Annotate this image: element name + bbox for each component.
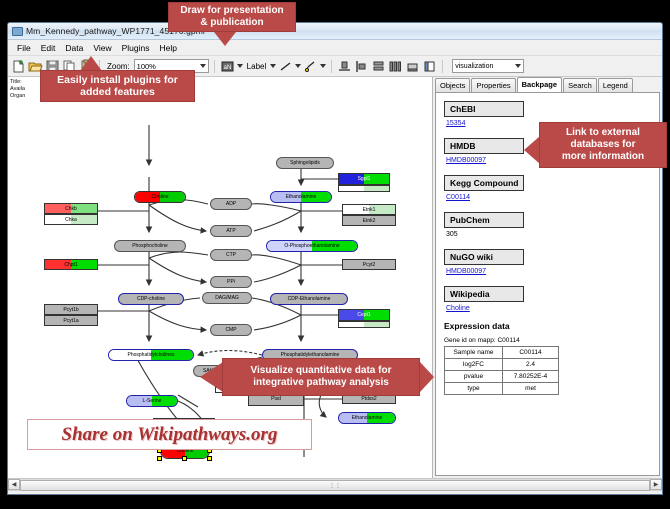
node-phosphatidylcholines[interactable]: Phosphatidylcholines	[108, 349, 194, 361]
cell-value: 2.4	[503, 359, 559, 371]
menu-edit[interactable]: Edit	[36, 42, 61, 54]
scrollbar-thumb[interactable]: ⋮⋮	[20, 480, 650, 491]
group-icon[interactable]	[405, 59, 420, 74]
callout-viz-line1: Visualize quantitative data for	[251, 365, 392, 377]
tab-objects[interactable]: Objects	[435, 78, 470, 92]
node-ppi[interactable]: PPi	[210, 276, 252, 288]
callout-viz-line2: integrative pathway analysis	[251, 377, 392, 389]
gene-sgpl1[interactable]: Sgpl1	[338, 173, 390, 185]
tab-properties[interactable]: Properties	[471, 78, 515, 92]
callout-plugins-pointer	[80, 56, 102, 71]
selection-handle[interactable]	[207, 456, 212, 461]
scrollbar-track[interactable]: ⋮⋮	[20, 479, 650, 490]
toolbar-separator-4	[442, 60, 443, 73]
tab-search[interactable]: Search	[563, 78, 597, 92]
callout-draw-line2: & publication	[180, 17, 283, 29]
callout-visualize-quantitative-data: Visualize quantitative data for integrat…	[222, 358, 420, 396]
menu-view[interactable]: View	[88, 42, 116, 54]
anchor-dropdown-icon[interactable]	[320, 64, 326, 68]
line-dropdown-icon[interactable]	[295, 64, 301, 68]
pathway-canvas[interactable]: Title: Availa Organ	[8, 77, 433, 478]
horizontal-scrollbar[interactable]: ◀ ⋮⋮ ▶	[8, 478, 662, 490]
visualization-value: visualization	[455, 63, 493, 70]
gene-chpt1[interactable]: Chpt1	[44, 259, 98, 270]
distribute-horizontal-icon[interactable]	[388, 59, 403, 74]
node-label: L-Serine	[143, 398, 162, 404]
callout-link-to-external-databases: Link to external databases for more info…	[539, 122, 667, 168]
cell-key: pvalue	[445, 371, 503, 383]
gene-pcyt2[interactable]: Pcyt2	[342, 259, 396, 270]
cell-key: type	[445, 383, 503, 395]
gene-label: Chkb	[65, 206, 77, 212]
node-label: Phosphatidylcholines	[128, 352, 175, 358]
menu-help[interactable]: Help	[155, 42, 182, 54]
svg-text:aN: aN	[223, 65, 231, 71]
menu-data[interactable]: Data	[60, 42, 88, 54]
order-icon[interactable]	[422, 59, 437, 74]
screenshot-root: Mm_Kennedy_pathway_WP1771_45176.gpml Fil…	[0, 0, 670, 509]
callout-visualize-pointer-right	[420, 362, 434, 392]
gene-cept1-lower	[338, 321, 390, 328]
status-text: | Gene database: ...m_Derby_20120602.bri…	[12, 494, 398, 496]
node-choline-top[interactable]: Choline	[134, 191, 186, 203]
label-tool-label: Label	[247, 62, 267, 71]
node-sphingolipids[interactable]: Sphingolipids	[276, 157, 334, 169]
gene-label: Chpt1	[64, 262, 77, 268]
menu-plugins[interactable]: Plugins	[117, 42, 155, 54]
node-cdp-ethanolamine[interactable]: CDP-Ethanolamine	[270, 293, 348, 305]
toolbar-separator-2	[214, 60, 215, 73]
align-bottom-icon[interactable]	[337, 59, 352, 74]
cell-value: met	[503, 383, 559, 395]
node-label: Ethanolamine	[352, 415, 383, 421]
table-row: log2FC 2.4	[445, 359, 559, 371]
callout-plugins-line1: Easily install plugins for	[57, 74, 178, 86]
menu-file[interactable]: File	[12, 42, 36, 54]
gene-cept1[interactable]: Cept1	[338, 309, 390, 321]
callout-link-pointer	[524, 136, 540, 164]
node-l-serine-left[interactable]: L-Serine	[126, 395, 178, 407]
align-left-icon[interactable]	[354, 59, 369, 74]
node-label: Choline	[152, 194, 169, 200]
cell-value: C00114	[503, 347, 559, 359]
gene-id-on-mapp: Gene id on mapp: C00114	[444, 337, 659, 344]
db-header-pubchem: PubChem	[444, 212, 524, 228]
node-dag-mag[interactable]: DAG/MAG	[202, 292, 252, 304]
node-ethanolamine-top[interactable]: Ethanolamine	[270, 191, 332, 203]
node-label: Ethanolamine	[286, 194, 317, 200]
node-cdp-choline[interactable]: CDP-choline	[118, 293, 184, 305]
gene-chkb[interactable]: Chkb	[44, 203, 98, 214]
node-phosphocholine[interactable]: Phosphocholine	[114, 240, 186, 252]
gene-label: Cept1	[357, 312, 370, 318]
db-header-chebi: ChEBI	[444, 101, 524, 117]
callout-link-line2: databases for	[562, 139, 644, 151]
callout-draw-for-presentation: Draw for presentation & publication	[168, 2, 296, 32]
scroll-left-icon[interactable]: ◀	[8, 479, 20, 490]
callout-visualize-pointer-left	[200, 362, 223, 392]
selection-handle[interactable]	[182, 456, 187, 461]
gene-etnk1[interactable]: Etnk1	[342, 204, 396, 215]
label-dropdown-icon[interactable]	[270, 64, 276, 68]
node-label: O-Phosphoethanolamine	[284, 243, 339, 249]
db-link-wikipedia[interactable]: Choline	[446, 305, 659, 312]
cell-key: log2FC	[445, 359, 503, 371]
cell-value: 7.80252E-4	[503, 371, 559, 383]
datanode-dropdown-icon[interactable]	[237, 64, 243, 68]
datanode-icon[interactable]: aN	[220, 59, 235, 74]
chevron-down-icon	[200, 64, 206, 68]
table-row: type met	[445, 383, 559, 395]
db-header-kegg-compound: Kegg Compound	[444, 175, 524, 191]
callout-draw-line1: Draw for presentation	[180, 5, 283, 17]
gene-chka[interactable]: Chka	[44, 214, 98, 225]
node-cmp[interactable]: CMP	[210, 324, 252, 336]
selection-handle[interactable]	[157, 456, 162, 461]
tab-legend[interactable]: Legend	[598, 78, 633, 92]
callout-link-line1: Link to external	[562, 127, 644, 139]
node-adp[interactable]: ADP	[210, 198, 252, 210]
db-header-hmdb: HMDB	[444, 138, 524, 154]
toolbar-separator-3	[331, 60, 332, 73]
menu-bar: File Edit Data View Plugins Help	[8, 40, 662, 56]
gene-pcyt1b[interactable]: Pcyt1b	[44, 304, 98, 315]
table-row: pvalue 7.80252E-4	[445, 371, 559, 383]
node-ethanolamine-right[interactable]: Ethanolamine	[338, 412, 396, 424]
tab-backpage[interactable]: Backpage	[517, 77, 562, 92]
scroll-right-icon[interactable]: ▶	[650, 479, 662, 490]
db-header-wikipedia: Wikipedia	[444, 286, 524, 302]
gene-sgpl1-lower	[338, 185, 390, 192]
share-on-wikipathways-banner: Share on Wikipathways.org	[27, 419, 312, 450]
anchor-icon[interactable]	[303, 59, 318, 74]
node-ctp[interactable]: CTP	[210, 249, 252, 261]
gene-pcyt1a[interactable]: Pcyt1a	[44, 315, 98, 326]
table-row: Sample name C00114	[445, 347, 559, 359]
app-icon	[12, 26, 22, 36]
callout-draw-pointer	[214, 32, 236, 46]
callout-easily-install-plugins: Easily install plugins for added feature…	[40, 70, 195, 102]
db-value-pubchem: 305	[446, 231, 659, 238]
window-title-bar: Mm_Kennedy_pathway_WP1771_45176.gpml	[8, 23, 662, 40]
side-panel-tabs: Objects Properties Backpage Search Legen…	[433, 77, 662, 92]
gene-label: Etnk1	[363, 207, 376, 213]
expression-data-table: Sample name C00114 log2FC 2.4 pvalue 7.8…	[444, 346, 559, 395]
db-link-kegg-compound[interactable]: C00114	[446, 194, 659, 201]
node-atp[interactable]: ATP	[210, 225, 252, 237]
stack-vertical-icon[interactable]	[371, 59, 386, 74]
visualization-combobox[interactable]: visualization	[452, 59, 524, 73]
chevron-down-icon	[515, 64, 521, 68]
callout-plugins-line2: added features	[57, 86, 178, 98]
share-banner-text: Share on Wikipathways.org	[62, 424, 278, 446]
callout-link-line3: more information	[562, 151, 644, 163]
gene-etnk2[interactable]: Etnk2	[342, 215, 396, 226]
db-header-nugo-wiki: NuGO wiki	[444, 249, 524, 265]
node-o-phosphoethanolamine[interactable]: O-Phosphoethanolamine	[266, 240, 358, 252]
db-link-nugo-wiki[interactable]: HMDB00097	[446, 268, 659, 275]
expression-data-title: Expression data	[444, 321, 659, 331]
gene-label: Sgpl1	[358, 176, 371, 182]
line-icon[interactable]	[278, 59, 293, 74]
cell-key: Sample name	[445, 347, 503, 359]
gene-label: Chka	[65, 217, 77, 223]
new-file-icon[interactable]	[11, 59, 26, 74]
